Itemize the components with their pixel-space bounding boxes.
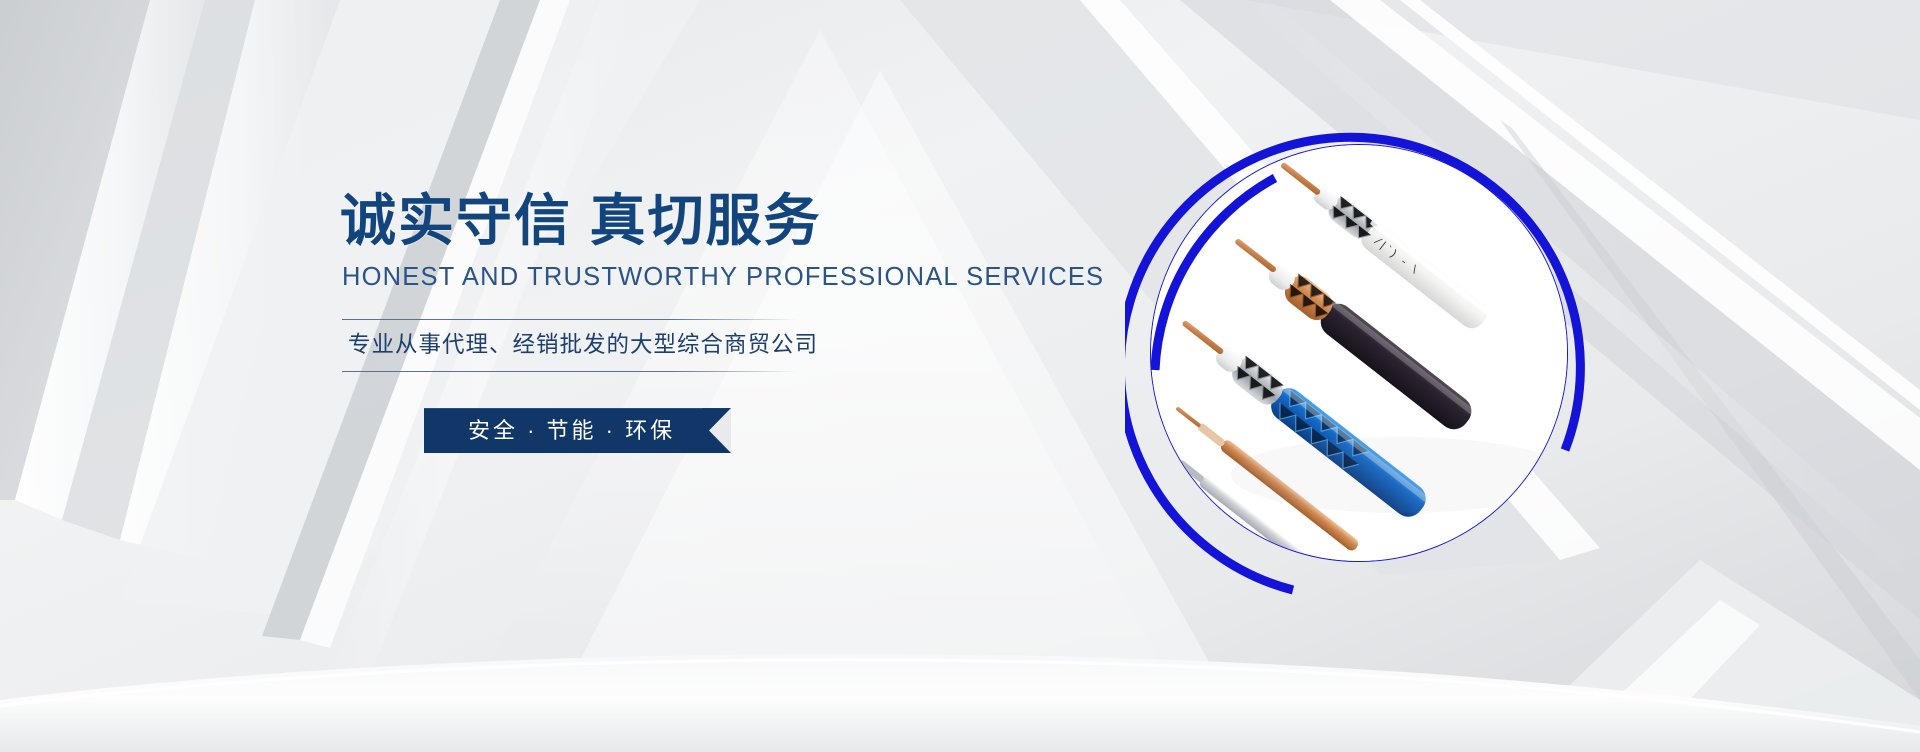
feature-ribbon-label: 安全 · 节能 · 环保 (468, 418, 675, 443)
divider-bottom (342, 371, 797, 372)
product-circle: /|`) - \ (1125, 120, 1625, 620)
banner-subheadline-chinese: 专业从事代理、经销批发的大型综合商贸公司 (342, 320, 797, 372)
banner-text-block: 诚实守信 真切服务 HONEST AND TRUSTWORTHY PROFESS… (340, 188, 1040, 453)
coaxial-cables-illustration: /|`) - \ (1151, 145, 1567, 561)
banner-headline: 诚实守信 真切服务 (340, 188, 1040, 254)
product-photo-disc: /|`) - \ (1150, 144, 1568, 562)
divider-group: 专业从事代理、经销批发的大型综合商贸公司 (342, 319, 797, 373)
ribbon-row: 安全 · 节能 · 环保 (424, 408, 1040, 453)
chevron-notch-shape (703, 408, 731, 453)
feature-ribbon[interactable]: 安全 · 节能 · 环保 (424, 408, 731, 453)
ribbon-notch-icon (703, 408, 731, 453)
hero-banner: 诚实守信 真切服务 HONEST AND TRUSTWORTHY PROFESS… (0, 0, 1920, 752)
banner-subheadline-english: HONEST AND TRUSTWORTHY PROFESSIONAL SERV… (342, 262, 1040, 293)
